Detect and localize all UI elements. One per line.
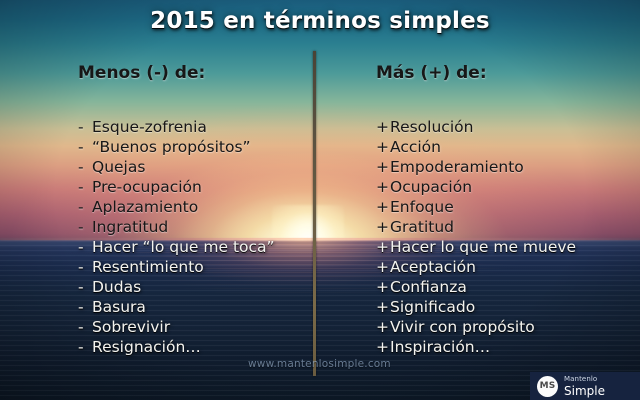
list-item-label: Acción [390, 138, 441, 156]
list-item: +Empoderamiento [376, 157, 626, 177]
bullet-marker: - [78, 237, 92, 257]
column-more-list: +Resolución +Acción +Empoderamiento +Ocu… [376, 117, 626, 357]
list-item: -Basura [78, 297, 308, 317]
list-item-label: Aceptación [390, 258, 476, 276]
list-item-label: Ingratitud [92, 218, 168, 236]
column-less-list: -Esque-zofrenia -“Buenos propósitos” -Qu… [78, 117, 308, 357]
list-item-label: Ocupación [390, 178, 472, 196]
list-item-label: Sobrevivir [92, 318, 170, 336]
bullet-marker: + [376, 257, 390, 277]
bullet-marker: - [78, 137, 92, 157]
bullet-marker: + [376, 177, 390, 197]
bullet-marker: + [376, 337, 390, 357]
list-item-label: Resentimiento [92, 258, 204, 276]
list-item-label: Dudas [92, 278, 141, 296]
list-item: -Sobrevivir [78, 317, 308, 337]
column-more-header: Más (+) de: [376, 63, 626, 83]
list-item: +Confianza [376, 277, 626, 297]
list-item: +Hacer lo que me mueve [376, 237, 626, 257]
list-item-label: Aplazamiento [92, 198, 198, 216]
bullet-marker: - [78, 157, 92, 177]
bullet-marker: + [376, 217, 390, 237]
bullet-marker: + [376, 317, 390, 337]
column-less: Menos (-) de: -Esque-zofrenia -“Buenos p… [78, 63, 308, 83]
list-item: -Quejas [78, 157, 308, 177]
list-item: -Pre-ocupación [78, 177, 308, 197]
list-item-label: Confianza [390, 278, 467, 296]
site-watermark: www.mantenlosimple.com [248, 358, 391, 370]
bullet-marker: + [376, 277, 390, 297]
slide-canvas: 2015 en términos simples Menos (-) de: -… [0, 0, 640, 400]
list-item-label: Hacer “lo que me toca” [92, 238, 275, 256]
logo-wordmark: Mantenlo Simple [564, 376, 605, 397]
list-item-label: Vivir con propósito [390, 318, 535, 336]
list-item: +Aceptación [376, 257, 626, 277]
bullet-marker: - [78, 217, 92, 237]
list-item: +Acción [376, 137, 626, 157]
page-title: 2015 en términos simples [0, 8, 640, 34]
list-item: -Resignación… [78, 337, 308, 357]
column-less-header: Menos (-) de: [78, 63, 308, 83]
list-item: +Ocupación [376, 177, 626, 197]
bullet-marker: - [78, 117, 92, 137]
list-item: +Enfoque [376, 197, 626, 217]
list-item: +Vivir con propósito [376, 317, 626, 337]
column-divider [313, 51, 316, 376]
list-item: -Aplazamiento [78, 197, 308, 217]
list-item-label: Inspiración… [390, 338, 490, 356]
bullet-marker: + [376, 157, 390, 177]
list-item-label: “Buenos propósitos” [92, 138, 251, 156]
list-item-label: Significado [390, 298, 475, 316]
list-item-label: Resolución [390, 118, 473, 136]
list-item: +Significado [376, 297, 626, 317]
bullet-marker: - [78, 257, 92, 277]
bullet-marker: - [78, 317, 92, 337]
brand-logo: MS Mantenlo Simple [530, 372, 640, 400]
list-item: -Resentimiento [78, 257, 308, 277]
list-item-label: Pre-ocupación [92, 178, 202, 196]
column-more: Más (+) de: +Resolución +Acción +Empoder… [376, 63, 626, 83]
bullet-marker: + [376, 297, 390, 317]
bullet-marker: + [376, 137, 390, 157]
list-item-label: Hacer lo que me mueve [390, 238, 576, 256]
list-item: -Esque-zofrenia [78, 117, 308, 137]
list-item-label: Quejas [92, 158, 145, 176]
bullet-marker: - [78, 277, 92, 297]
bullet-marker: + [376, 237, 390, 257]
list-item: +Resolución [376, 117, 626, 137]
list-item-label: Esque-zofrenia [92, 118, 207, 136]
bullet-marker: - [78, 197, 92, 217]
logo-initials: MS [537, 376, 558, 397]
list-item-label: Resignación… [92, 338, 201, 356]
list-item: -Dudas [78, 277, 308, 297]
list-item-label: Gratitud [390, 218, 454, 236]
logo-line-1: Mantenlo [564, 376, 605, 383]
list-item: -Ingratitud [78, 217, 308, 237]
list-item: -“Buenos propósitos” [78, 137, 308, 157]
bullet-marker: + [376, 117, 390, 137]
list-item: +Inspiración… [376, 337, 626, 357]
bullet-marker: - [78, 177, 92, 197]
list-item: -Hacer “lo que me toca” [78, 237, 308, 257]
bullet-marker: + [376, 197, 390, 217]
bullet-marker: - [78, 297, 92, 317]
list-item-label: Basura [92, 298, 146, 316]
logo-line-2: Simple [564, 385, 605, 397]
bullet-marker: - [78, 337, 92, 357]
list-item-label: Empoderamiento [390, 158, 524, 176]
list-item-label: Enfoque [390, 198, 454, 216]
list-item: +Gratitud [376, 217, 626, 237]
